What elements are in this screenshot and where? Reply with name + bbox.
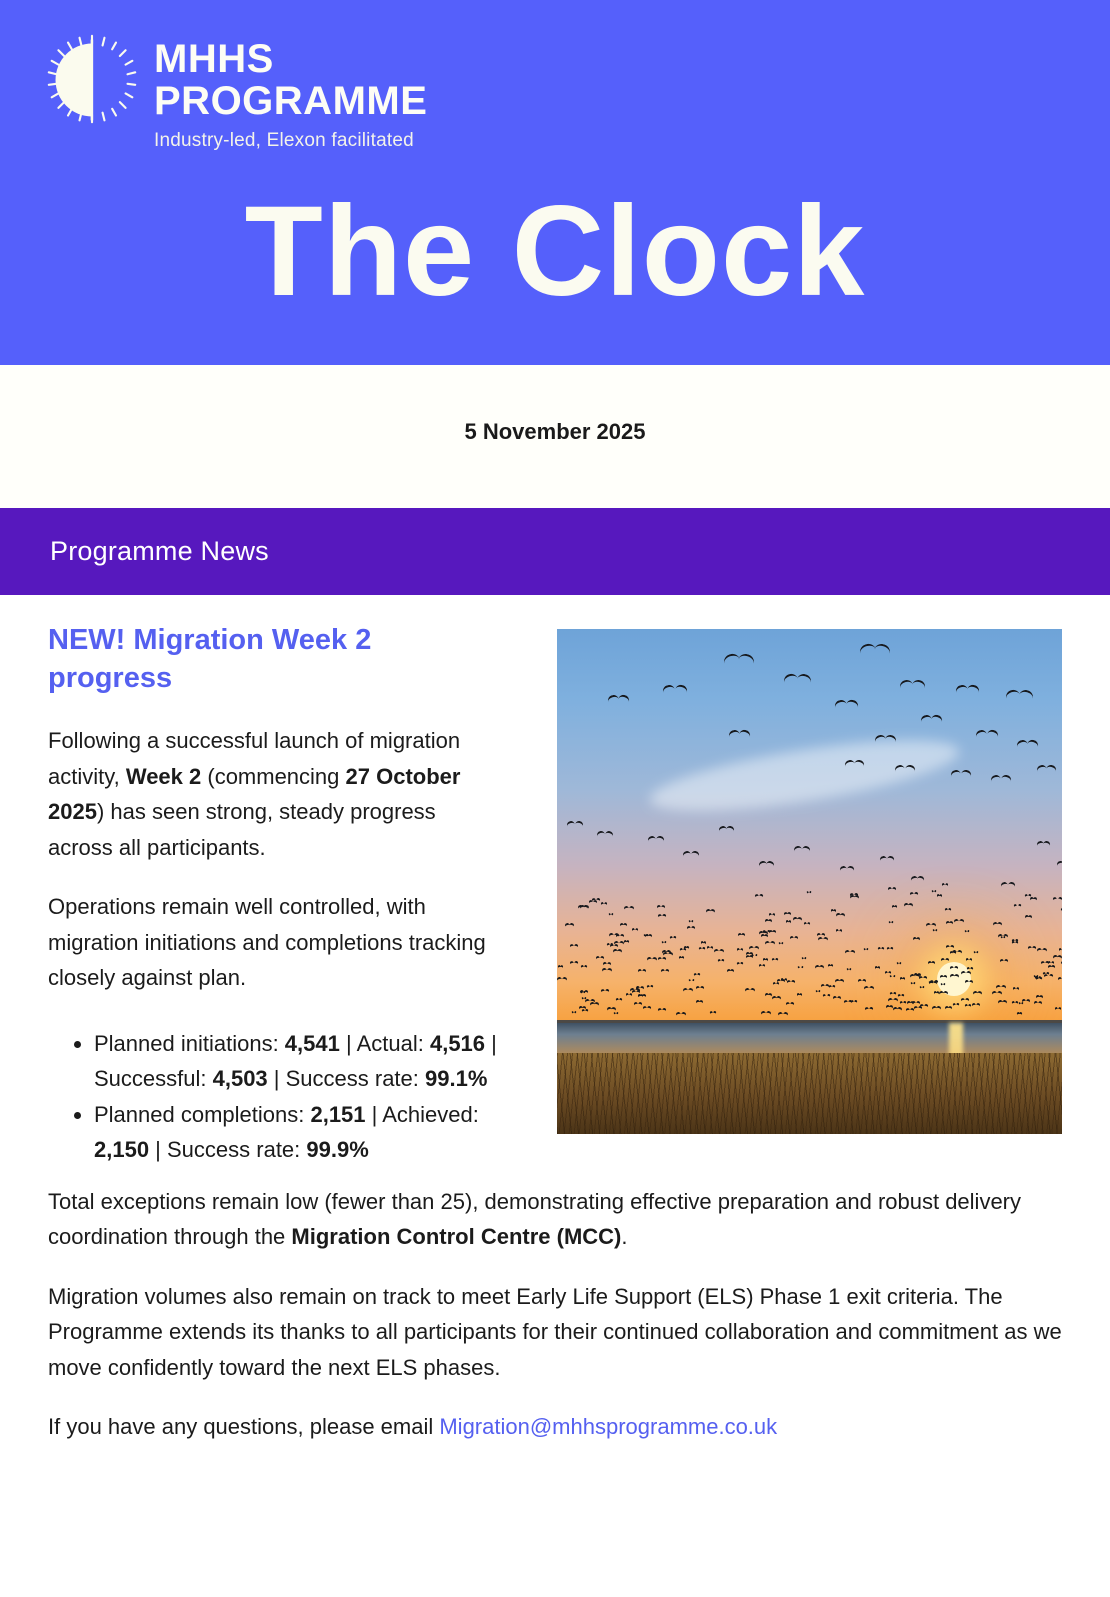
article-heading: NEW! Migration Week 2 progress: [48, 621, 478, 697]
date-bar: 5 November 2025: [0, 365, 1110, 508]
brand-tagline: Industry-led, Elexon facilitated: [154, 130, 427, 152]
reed-bed: [557, 1053, 1062, 1134]
contact-email-link[interactable]: Migration@mhhsprogramme.co.uk: [439, 1414, 777, 1439]
masthead-banner: MHHS PROGRAMME Industry-led, Elexon faci…: [0, 0, 1110, 365]
issue-date: 5 November 2025: [465, 419, 646, 445]
article-top: NEW! Migration Week 2 progress Following…: [48, 595, 1062, 1168]
cloud-wisp: [646, 726, 963, 825]
contact-prefix: If you have any questions, please email: [48, 1414, 439, 1439]
article-contact-line: If you have any questions, please email …: [48, 1409, 1062, 1445]
migrating-birds-sunset-photo: [557, 629, 1062, 1134]
article-paragraph-1: Following a successful launch of migrati…: [48, 723, 500, 865]
article-paragraph-3: Total exceptions remain low (fewer than …: [48, 1184, 1062, 1255]
article-paragraph-2: Operations remain well controlled, with …: [48, 889, 500, 996]
section-title: Programme News: [50, 536, 269, 567]
newsletter-title: The Clock: [0, 186, 1110, 318]
article-paragraph-4: Migration volumes also remain on track t…: [48, 1279, 1062, 1386]
brand-name-line1: MHHS: [154, 38, 427, 80]
sun-clock-icon: [44, 32, 140, 128]
article-body-column: Total exceptions remain low (fewer than …: [48, 1168, 1062, 1445]
brand-text: MHHS PROGRAMME Industry-led, Elexon faci…: [154, 32, 427, 152]
article-image: [557, 629, 1062, 1134]
section-header-programme-news: Programme News: [0, 508, 1110, 595]
brand-lockup: MHHS PROGRAMME Industry-led, Elexon faci…: [44, 32, 427, 152]
brand-name-line2: PROGRAMME: [154, 80, 427, 122]
article-migration-week-2: NEW! Migration Week 2 progress Following…: [0, 595, 1110, 1445]
article-intro-column: Following a successful launch of migrati…: [48, 723, 500, 996]
